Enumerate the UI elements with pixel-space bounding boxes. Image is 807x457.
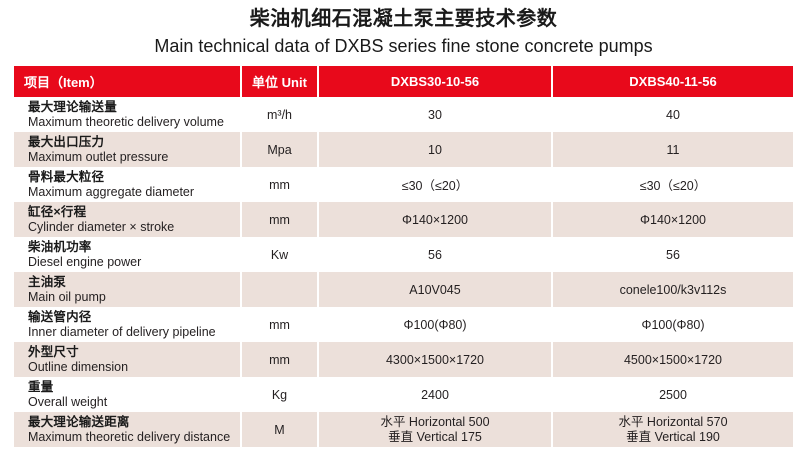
row-unit-cell: Kw — [241, 237, 318, 272]
table-row: 外型尺寸 Outline dimension mm 4300×1500×1720… — [14, 342, 793, 377]
table-row: 骨料最大粒径 Maximum aggregate diameter mm ≤30… — [14, 167, 793, 202]
row-value-model1: 4300×1500×1720 — [318, 342, 552, 377]
row-value-model2: conele100/k3v112s — [552, 272, 793, 307]
column-header-model-dxbs40: DXBS40-11-56 — [552, 66, 793, 97]
row-label-cn: 主油泵 — [28, 275, 232, 290]
value-vertical: 垂直 Vertical 190 — [561, 430, 785, 445]
row-value-model1: A10V045 — [318, 272, 552, 307]
row-label-en: Inner diameter of delivery pipeline — [28, 325, 232, 340]
row-label-cell: 输送管内径 Inner diameter of delivery pipelin… — [14, 307, 241, 342]
row-value-model1: 水平 Horizontal 500 垂直 Vertical 175 — [318, 412, 552, 447]
row-unit-cell: Mpa — [241, 132, 318, 167]
row-label-cell: 缸径×行程 Cylinder diameter × stroke — [14, 202, 241, 237]
row-value-model2: 4500×1500×1720 — [552, 342, 793, 377]
row-value-model1: 2400 — [318, 377, 552, 412]
row-label-en: Diesel engine power — [28, 255, 232, 270]
row-value-model2: 56 — [552, 237, 793, 272]
row-value-model2: ≤30（≤20） — [552, 167, 793, 202]
table-row: 最大出口压力 Maximum outlet pressure Mpa 10 11 — [14, 132, 793, 167]
row-label-cn: 骨料最大粒径 — [28, 170, 232, 185]
row-value-model1: 30 — [318, 97, 552, 132]
table-row: 最大理论输送距离 Maximum theoretic delivery dist… — [14, 412, 793, 447]
spec-table-wrapper: 项目（Item） 单位 Unit DXBS30-10-56 DXBS40-11-… — [14, 66, 793, 447]
row-value-model2: 40 — [552, 97, 793, 132]
value-vertical: 垂直 Vertical 175 — [327, 430, 543, 445]
table-header: 项目（Item） 单位 Unit DXBS30-10-56 DXBS40-11-… — [14, 66, 793, 97]
row-value-model1: ≤30（≤20） — [318, 167, 552, 202]
row-label-cell: 柴油机功率 Diesel engine power — [14, 237, 241, 272]
value-horizontal: 水平 Horizontal 570 — [561, 415, 785, 430]
row-value-model1: Φ100(Φ80) — [318, 307, 552, 342]
page-title-cn: 柴油机细石混凝土泵主要技术参数 — [0, 6, 807, 32]
row-unit-cell: m³/h — [241, 97, 318, 132]
row-label-cell: 主油泵 Main oil pump — [14, 272, 241, 307]
row-value-model2: Φ140×1200 — [552, 202, 793, 237]
row-label-cell: 重量 Overall weight — [14, 377, 241, 412]
row-value-model1: 10 — [318, 132, 552, 167]
page-root: 柴油机细石混凝土泵主要技术参数 Main technical data of D… — [0, 0, 807, 457]
row-label-cn: 输送管内径 — [28, 310, 232, 325]
table-body: 最大理论输送量 Maximum theoretic delivery volum… — [14, 97, 793, 447]
row-unit-cell: mm — [241, 307, 318, 342]
table-row: 输送管内径 Inner diameter of delivery pipelin… — [14, 307, 793, 342]
row-label-cn: 柴油机功率 — [28, 240, 232, 255]
row-unit-cell: M — [241, 412, 318, 447]
page-title-en: Main technical data of DXBS series fine … — [0, 34, 807, 58]
row-value-model1: Φ140×1200 — [318, 202, 552, 237]
table-row: 缸径×行程 Cylinder diameter × stroke mm Φ140… — [14, 202, 793, 237]
row-value-model2: 2500 — [552, 377, 793, 412]
row-label-cell: 最大出口压力 Maximum outlet pressure — [14, 132, 241, 167]
row-value-model2: 水平 Horizontal 570 垂直 Vertical 190 — [552, 412, 793, 447]
row-label-cn: 缸径×行程 — [28, 205, 232, 220]
row-unit-cell: mm — [241, 167, 318, 202]
row-label-cn: 外型尺寸 — [28, 345, 232, 360]
value-horizontal: 水平 Horizontal 500 — [327, 415, 543, 430]
row-label-en: Maximum aggregate diameter — [28, 185, 232, 200]
row-unit-cell: Kg — [241, 377, 318, 412]
row-label-cn: 最大理论输送量 — [28, 100, 232, 115]
table-row: 柴油机功率 Diesel engine power Kw 56 56 — [14, 237, 793, 272]
row-label-en: Main oil pump — [28, 290, 232, 305]
row-label-cell: 外型尺寸 Outline dimension — [14, 342, 241, 377]
column-header-unit: 单位 Unit — [241, 66, 318, 97]
row-label-en: Maximum theoretic delivery volume — [28, 115, 232, 130]
row-label-cn: 最大出口压力 — [28, 135, 232, 150]
row-label-cn: 最大理论输送距离 — [28, 415, 232, 430]
row-label-en: Overall weight — [28, 395, 232, 410]
row-label-en: Maximum outlet pressure — [28, 150, 232, 165]
row-value-model2: 11 — [552, 132, 793, 167]
row-label-cell: 最大理论输送量 Maximum theoretic delivery volum… — [14, 97, 241, 132]
row-label-en: Cylinder diameter × stroke — [28, 220, 232, 235]
row-unit-cell — [241, 272, 318, 307]
table-row: 重量 Overall weight Kg 2400 2500 — [14, 377, 793, 412]
row-label-en: Outline dimension — [28, 360, 232, 375]
row-unit-cell: mm — [241, 202, 318, 237]
row-value-model2: Φ100(Φ80) — [552, 307, 793, 342]
row-unit-cell: mm — [241, 342, 318, 377]
table-header-row: 项目（Item） 单位 Unit DXBS30-10-56 DXBS40-11-… — [14, 66, 793, 97]
table-row: 主油泵 Main oil pump A10V045 conele100/k3v1… — [14, 272, 793, 307]
column-header-item: 项目（Item） — [14, 66, 241, 97]
column-header-model-dxbs30: DXBS30-10-56 — [318, 66, 552, 97]
technical-data-table: 项目（Item） 单位 Unit DXBS30-10-56 DXBS40-11-… — [14, 66, 793, 447]
row-label-cn: 重量 — [28, 380, 232, 395]
row-label-en: Maximum theoretic delivery distance — [28, 430, 232, 445]
row-value-model1: 56 — [318, 237, 552, 272]
table-row: 最大理论输送量 Maximum theoretic delivery volum… — [14, 97, 793, 132]
row-label-cell: 骨料最大粒径 Maximum aggregate diameter — [14, 167, 241, 202]
row-label-cell: 最大理论输送距离 Maximum theoretic delivery dist… — [14, 412, 241, 447]
title-block: 柴油机细石混凝土泵主要技术参数 Main technical data of D… — [0, 0, 807, 58]
